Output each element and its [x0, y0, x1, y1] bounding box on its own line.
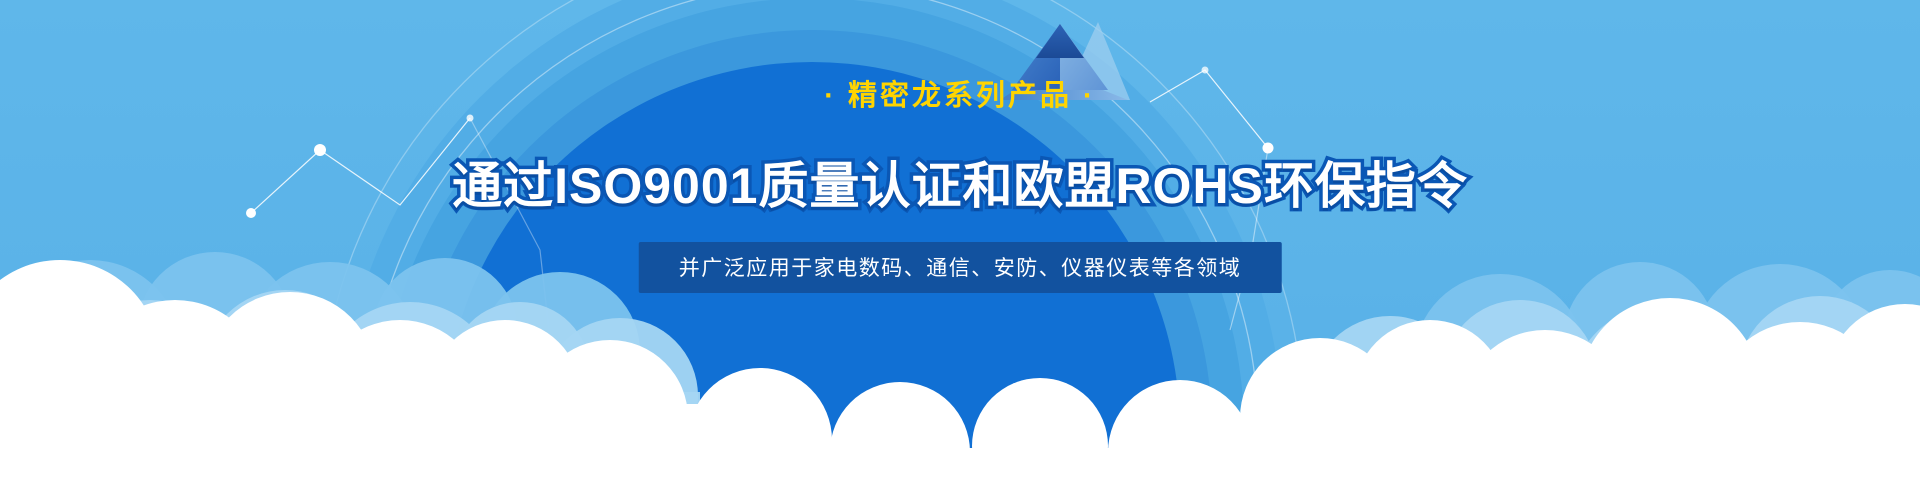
- promo-banner: · 精密龙系列产品 · 通过ISO9001质量认证和欧盟ROHS环保指令 并广泛…: [0, 0, 1920, 480]
- cloud-layer-decoration: [0, 0, 1920, 480]
